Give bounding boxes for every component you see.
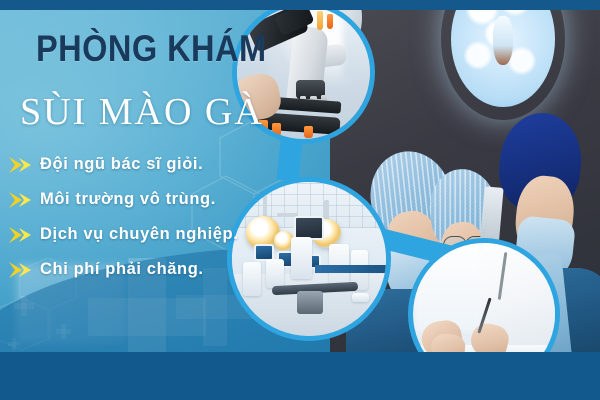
list-item: Đội ngũ bác sĩ giỏi.: [8, 148, 298, 181]
page-title: PHÒNG KHÁM: [36, 28, 267, 70]
list-item-label: Dịch vụ chuyên nghiệp.: [40, 225, 238, 244]
headline-text-column: PHÒNG KHÁM SÙI MÀO GÀ Đội ngũ bác sĩ giỏ…: [0, 0, 300, 400]
chevron-right-icon: [8, 261, 34, 279]
bottom-accent-bar: [0, 352, 600, 400]
list-item: Chi phí phải chăng.: [8, 253, 298, 286]
list-item-label: Đội ngũ bác sĩ giỏi.: [40, 155, 203, 174]
list-item-label: Chi phí phải chăng.: [40, 260, 204, 279]
surgical-lamp-icon: [441, 0, 565, 120]
feature-list: Đội ngũ bác sĩ giỏi. Môi trường vô trùng…: [8, 148, 298, 288]
clinic-promo-banner: PHÒNG KHÁM SÙI MÀO GÀ Đội ngũ bác sĩ giỏ…: [0, 0, 600, 400]
list-item: Dịch vụ chuyên nghiệp.: [8, 218, 298, 251]
page-subtitle: SÙI MÀO GÀ: [20, 90, 264, 134]
list-item: Môi trường vô trùng.: [8, 183, 298, 216]
chevron-right-icon: [8, 156, 34, 174]
chevron-right-icon: [8, 191, 34, 209]
top-accent-bar: [0, 0, 600, 10]
chevron-right-icon: [8, 226, 34, 244]
list-item-label: Môi trường vô trùng.: [40, 190, 216, 209]
